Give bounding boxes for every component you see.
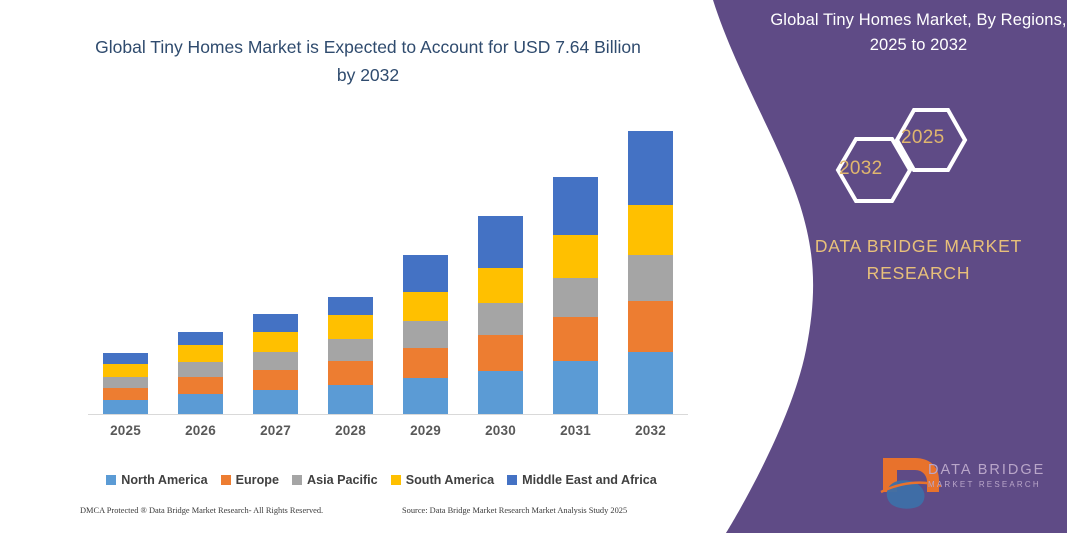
bar-2031[interactable] <box>553 177 598 415</box>
segment-south-america-2026[interactable] <box>178 345 223 362</box>
chart-legend: North AmericaEuropeAsia PacificSouth Ame… <box>88 470 688 490</box>
segment-north-america-2030[interactable] <box>478 371 523 415</box>
segment-europe-2026[interactable] <box>178 377 223 394</box>
segment-europe-2025[interactable] <box>103 388 148 400</box>
segment-europe-2030[interactable] <box>478 335 523 371</box>
x-label-2032: 2032 <box>616 423 686 438</box>
logo-text: DATA BRIDGE MARKET RESEARCH <box>928 462 1067 491</box>
segment-asia-pacific-2026[interactable] <box>178 362 223 377</box>
segment-middle-east-and-africa-2028[interactable] <box>328 297 373 315</box>
legend-label: South America <box>406 473 494 487</box>
segment-north-america-2026[interactable] <box>178 394 223 415</box>
segment-asia-pacific-2030[interactable] <box>478 303 523 335</box>
segment-asia-pacific-2028[interactable] <box>328 339 373 361</box>
segment-middle-east-and-africa-2027[interactable] <box>253 314 298 332</box>
legend-label: Europe <box>236 473 279 487</box>
segment-europe-2028[interactable] <box>328 361 373 385</box>
segment-north-america-2025[interactable] <box>103 400 148 415</box>
segment-north-america-2027[interactable] <box>253 390 298 415</box>
x-axis-labels: 20252026202720282029203020312032 <box>88 423 688 445</box>
legend-swatch-icon <box>221 475 231 485</box>
bar-2025[interactable] <box>103 353 148 415</box>
legend-item-north-america[interactable]: North America <box>106 473 207 487</box>
segment-europe-2027[interactable] <box>253 370 298 390</box>
legend-item-middle-east-and-africa[interactable]: Middle East and Africa <box>507 473 657 487</box>
segment-south-america-2029[interactable] <box>403 292 448 321</box>
segment-middle-east-and-africa-2026[interactable] <box>178 332 223 345</box>
segment-europe-2031[interactable] <box>553 317 598 361</box>
footer-source: Source: Data Bridge Market Research Mark… <box>402 506 627 515</box>
segment-south-america-2028[interactable] <box>328 315 373 339</box>
bar-2027[interactable] <box>253 314 298 415</box>
legend-swatch-icon <box>391 475 401 485</box>
x-label-2031: 2031 <box>541 423 611 438</box>
brand-name: DATA BRIDGE MARKET RESEARCH <box>770 233 1067 287</box>
legend-swatch-icon <box>106 475 116 485</box>
logo-line-1: DATA BRIDGE <box>928 462 1067 479</box>
legend-item-asia-pacific[interactable]: Asia Pacific <box>292 473 378 487</box>
segment-asia-pacific-2031[interactable] <box>553 278 598 317</box>
legend-swatch-icon <box>292 475 302 485</box>
segment-north-america-2028[interactable] <box>328 385 373 415</box>
hex-2032-label: 2032 <box>839 158 882 180</box>
segment-europe-2029[interactable] <box>403 348 448 378</box>
legend-item-south-america[interactable]: South America <box>391 473 494 487</box>
segment-middle-east-and-africa-2032[interactable] <box>628 131 673 205</box>
hex-2025-label: 2025 <box>901 127 944 149</box>
x-label-2025: 2025 <box>91 423 161 438</box>
legend-label: North America <box>121 473 207 487</box>
bar-chart-plot <box>88 110 688 415</box>
segment-north-america-2029[interactable] <box>403 378 448 415</box>
segment-middle-east-and-africa-2031[interactable] <box>553 177 598 235</box>
infographic-canvas: Global Tiny Homes Market, By Regions, 20… <box>0 0 1067 533</box>
bar-2029[interactable] <box>403 255 448 415</box>
segment-north-america-2031[interactable] <box>553 361 598 415</box>
bar-2026[interactable] <box>178 332 223 415</box>
segment-asia-pacific-2029[interactable] <box>403 321 448 348</box>
x-axis-line <box>88 414 688 415</box>
legend-label: Middle East and Africa <box>522 473 657 487</box>
legend-label: Asia Pacific <box>307 473 378 487</box>
region-title: Global Tiny Homes Market, By Regions, 20… <box>770 8 1067 58</box>
segment-south-america-2032[interactable] <box>628 205 673 255</box>
segment-south-america-2030[interactable] <box>478 268 523 303</box>
segment-asia-pacific-2025[interactable] <box>103 377 148 388</box>
bar-2030[interactable] <box>478 216 523 415</box>
x-label-2026: 2026 <box>166 423 236 438</box>
hexagon-group <box>808 95 1028 205</box>
segment-south-america-2025[interactable] <box>103 364 148 377</box>
logo-line-2: MARKET RESEARCH <box>928 479 1067 491</box>
legend-item-europe[interactable]: Europe <box>221 473 279 487</box>
x-label-2028: 2028 <box>316 423 386 438</box>
x-label-2029: 2029 <box>391 423 461 438</box>
footer-copyright: DMCA Protected ® Data Bridge Market Rese… <box>80 506 323 515</box>
bar-2032[interactable] <box>628 131 673 415</box>
bar-2028[interactable] <box>328 297 373 415</box>
right-panel-content: Global Tiny Homes Market, By Regions, 20… <box>770 0 1067 533</box>
x-label-2030: 2030 <box>466 423 536 438</box>
segment-middle-east-and-africa-2030[interactable] <box>478 216 523 268</box>
segment-south-america-2027[interactable] <box>253 332 298 352</box>
page-title: Global Tiny Homes Market is Expected to … <box>88 33 648 89</box>
segment-north-america-2032[interactable] <box>628 352 673 415</box>
footer: DMCA Protected ® Data Bridge Market Rese… <box>80 506 680 524</box>
segment-asia-pacific-2027[interactable] <box>253 352 298 370</box>
segment-europe-2032[interactable] <box>628 301 673 352</box>
segment-middle-east-and-africa-2029[interactable] <box>403 255 448 292</box>
segment-middle-east-and-africa-2025[interactable] <box>103 353 148 364</box>
x-label-2027: 2027 <box>241 423 311 438</box>
segment-asia-pacific-2032[interactable] <box>628 255 673 301</box>
segment-south-america-2031[interactable] <box>553 235 598 278</box>
legend-swatch-icon <box>507 475 517 485</box>
